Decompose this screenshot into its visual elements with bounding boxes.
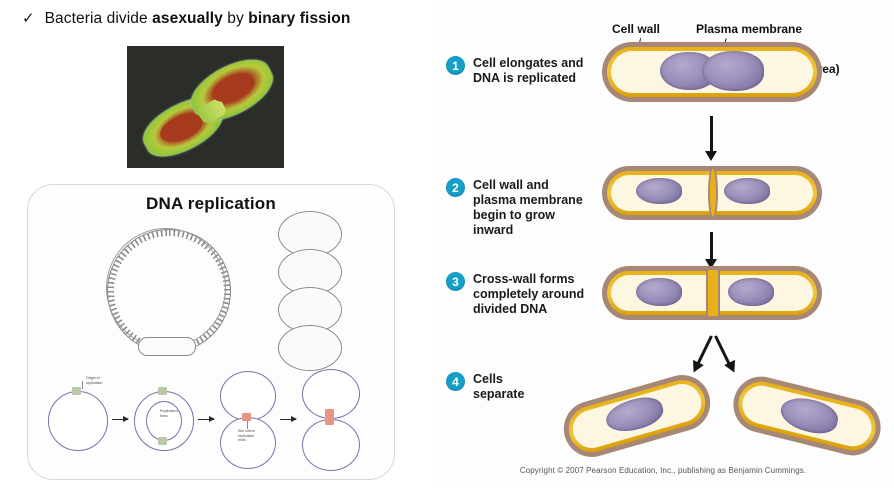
step-text-1: Cell elongates and DNA is replicated [473,56,583,86]
left-column: ✓ Bacteria divide asexually by binary fi… [0,0,432,488]
sequence-arrow [198,419,214,420]
circular-chromosome-ring [106,228,226,348]
flow-arrow-2-to-3 [710,232,713,260]
label-site-where-replication-ends: Site where replication ends [238,429,255,443]
copyright-notice: Copyright © 2007 Pearson Education, Inc.… [432,466,894,475]
terminus-marker [325,417,334,425]
replication-stage-3-lower [220,417,276,469]
cell-stage-4-right [727,371,886,462]
cell-stage-1 [602,42,822,102]
leader-line [82,381,83,389]
step-text-2: Cell wall and plasma membrane begin to g… [473,178,583,238]
step-text-3: Cross-wall forms completely around divid… [473,272,584,317]
chromosome-bar [138,337,196,356]
step-text-4: Cells separate [473,372,524,402]
dna-replication-panel: DNA replication Origin of replication [27,184,395,480]
replication-stage-4-lower [302,419,360,471]
nucleoid [702,51,764,91]
check-icon: ✓ [22,8,35,30]
nucleoid [728,278,774,306]
terminus-marker-green [158,437,167,445]
step-4: 4 Cells separate [446,372,596,402]
step-badge-4: 4 [446,372,465,391]
bullet-point: ✓ Bacteria divide asexually by binary fi… [22,8,422,30]
label-cell-wall: Cell wall [612,22,660,36]
terminus-marker [325,409,334,417]
replication-sequence: Origin of replication Replication forks … [36,367,388,471]
step-1: 1 Cell elongates and DNA is replicated [446,56,596,86]
origin-marker [158,387,167,395]
cell-stage-3 [602,266,822,320]
slide-root: ✓ Bacteria divide asexually by binary fi… [0,0,894,488]
replication-bubble [146,401,182,441]
sequence-arrow [112,419,128,420]
flow-arrow-1-to-2 [710,116,713,152]
bullet-text: Bacteria divide asexually by binary fiss… [45,8,351,30]
replication-stage-1 [48,391,108,451]
nucleoid [724,178,770,204]
step-2: 2 Cell wall and plasma membrane begin to… [446,178,596,238]
flow-arrow-3-to-4-split [664,336,760,370]
step-badge-1: 1 [446,56,465,75]
terminus-marker [242,413,251,421]
binary-fission-diagram: Cell wall Plasma membrane DNA (nuclear a… [432,0,894,488]
inward-growing-membrane [710,169,716,217]
fork-arrowhead-left [688,360,704,375]
sequence-arrow [280,419,296,420]
leader-line [247,421,248,429]
label-plasma-membrane: Plasma membrane [696,22,802,36]
cell-stage-2 [602,166,822,220]
bacteria-micrograph [127,46,284,168]
step-badge-2: 2 [446,178,465,197]
label-origin-of-replication: Origin of replication [86,376,102,385]
step-3: 3 Cross-wall forms completely around div… [446,272,596,317]
origin-marker [72,387,81,395]
nucleoid [636,278,682,306]
step-badge-3: 3 [446,272,465,291]
nucleoid [636,178,682,204]
catenated-circles-chain [268,211,352,371]
label-replication-forks: Replication forks [160,409,178,418]
cross-wall-membrane [708,270,718,316]
chain-circle [278,325,342,371]
